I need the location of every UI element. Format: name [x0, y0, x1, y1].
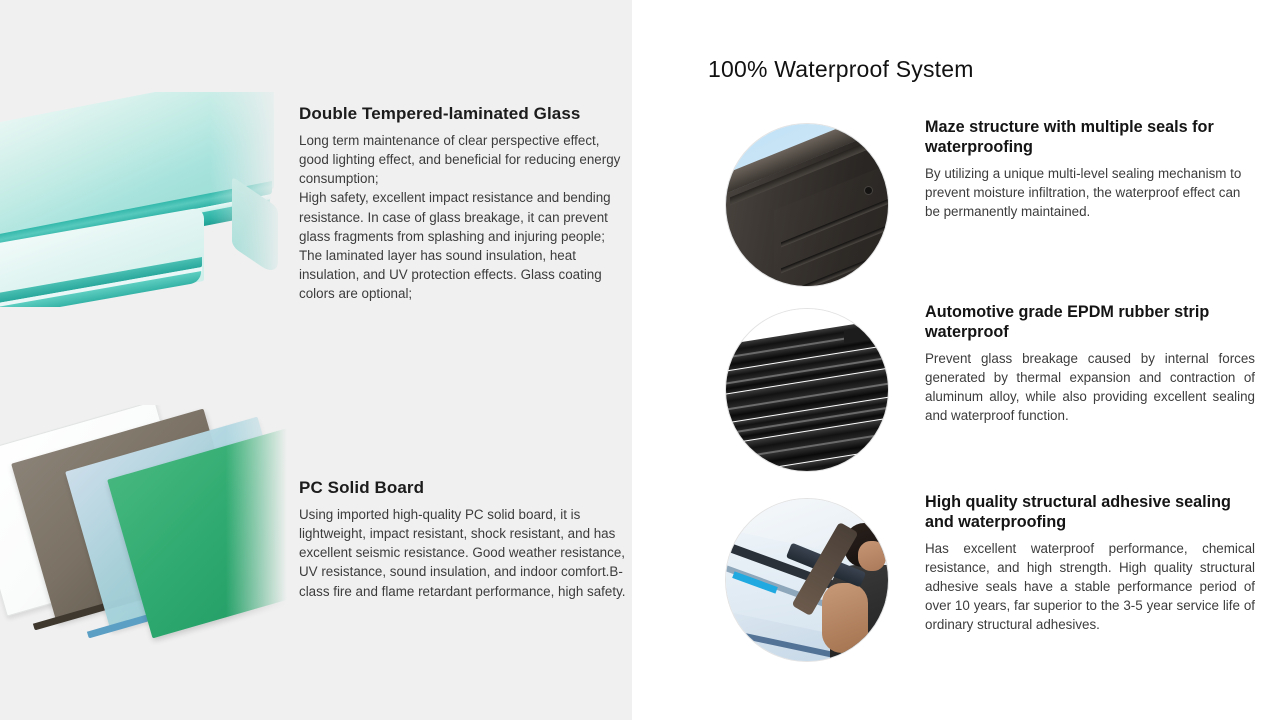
- epdm-title: Automotive grade EPDM rubber strip water…: [925, 303, 1255, 343]
- waterproof-system-heading: 100% Waterproof System: [708, 56, 974, 83]
- adhesive-description: Has excellent waterproof performance, ch…: [925, 539, 1255, 634]
- maze-structure-text-block: Maze structure with multiple seals for w…: [925, 118, 1255, 221]
- maze-structure-image-inner: [726, 124, 888, 286]
- pc-photo-fade: [0, 405, 290, 660]
- maze-structure-title: Maze structure with multiple seals for w…: [925, 118, 1255, 158]
- epdm-description: Prevent glass breakage caused by interna…: [925, 349, 1255, 425]
- worker-arm: [822, 583, 868, 653]
- slide-root: Double Tempered-laminated Glass Long ter…: [0, 0, 1280, 720]
- right-panel: 100% Waterproof System Maze stru: [632, 0, 1280, 720]
- adhesive-text-block: High quality structural adhesive sealing…: [925, 493, 1255, 634]
- glass-title: Double Tempered-laminated Glass: [299, 104, 629, 124]
- double-tempered-laminated-glass-photo: [0, 92, 294, 307]
- structural-adhesive-sealing-photo: [725, 498, 889, 662]
- glass-description: Long term maintenance of clear perspecti…: [299, 131, 629, 302]
- pc-board-text-block: PC Solid Board Using imported high-quali…: [299, 478, 629, 601]
- maze-structure-seal-photo: [725, 123, 889, 287]
- adhesive-title: High quality structural adhesive sealing…: [925, 493, 1255, 533]
- epdm-rubber-strip-photo: [725, 308, 889, 472]
- glass-text-block: Double Tempered-laminated Glass Long ter…: [299, 104, 629, 303]
- worker-face: [858, 541, 886, 571]
- pc-solid-board-photo: [0, 405, 290, 660]
- epdm-image-inner: [726, 309, 888, 471]
- epdm-text-block: Automotive grade EPDM rubber strip water…: [925, 303, 1255, 425]
- maze-structure-description: By utilizing a unique multi-level sealin…: [925, 164, 1255, 221]
- pc-board-description: Using imported high-quality PC solid boa…: [299, 505, 629, 600]
- left-panel: Double Tempered-laminated Glass Long ter…: [0, 0, 632, 720]
- drain-hole: [865, 187, 872, 194]
- adhesive-image-inner: [726, 499, 888, 661]
- pc-board-title: PC Solid Board: [299, 478, 629, 498]
- glass-photo-fade: [0, 92, 294, 307]
